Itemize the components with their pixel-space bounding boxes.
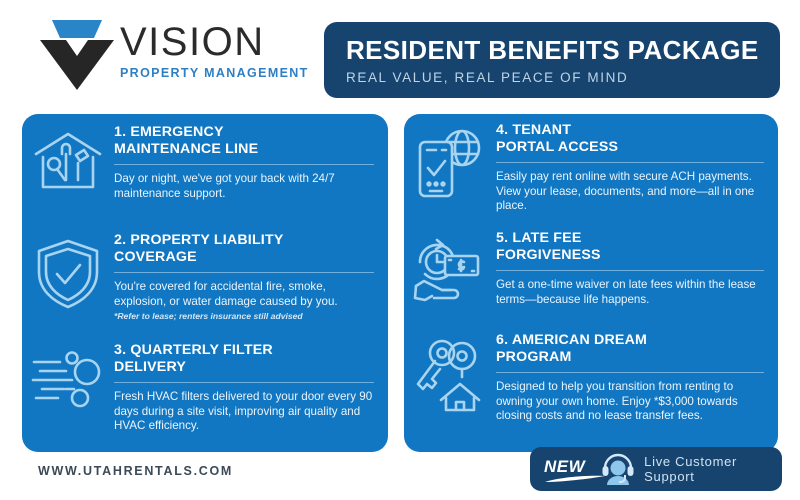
website-url[interactable]: WWW.UTAHRENTALS.COM [38, 464, 233, 478]
benefits-card-right: 4. TENANT PORTAL ACCESS Easily pay rent … [404, 114, 778, 452]
brand-wordmark: VISION PROPERTY MANAGEMENT [120, 20, 310, 81]
benefit-title-line1: 2. PROPERTY LIABILITY [114, 232, 374, 249]
benefit-body: 3. QUARTERLY FILTER DELIVERY Fresh HVAC … [114, 342, 388, 434]
benefit-divider [114, 164, 374, 165]
benefit-divider [496, 270, 764, 271]
headset-agent-icon [601, 453, 635, 485]
benefit-body: 6. AMERICAN DREAM PROGRAM Designed to he… [496, 332, 778, 424]
benefit-item-tenant-portal: 4. TENANT PORTAL ACCESS Easily pay rent … [404, 122, 778, 214]
benefit-description: Easily pay rent online with secure ACH p… [496, 170, 764, 214]
brand-logo: VISION PROPERTY MANAGEMENT [38, 14, 308, 92]
benefit-divider [114, 272, 374, 273]
benefit-title-line2: FORGIVENESS [496, 247, 764, 264]
brand-tagline: PROPERTY MANAGEMENT [120, 65, 310, 81]
benefit-divider [496, 372, 764, 373]
page-subtitle: REAL VALUE, REAL PEACE OF MIND [346, 68, 780, 88]
benefit-title-line1: 1. EMERGENCY [114, 124, 374, 141]
support-label: Live Customer Support [644, 454, 737, 485]
new-flag-label: NEW [544, 457, 585, 477]
airflow-icon [22, 342, 114, 410]
benefit-title-line2: PORTAL ACCESS [496, 139, 764, 156]
benefit-description: You're covered for accidental fire, smok… [114, 280, 374, 309]
benefit-description: Get a one-time waiver on late fees withi… [496, 278, 764, 307]
brand-name: VISION [120, 20, 310, 64]
benefit-body: 5. LATE FEE FORGIVENESS Get a one-time w… [496, 230, 778, 307]
benefit-item-late-fee-forgiveness: 5. LATE FEE FORGIVENESS Get a one-time w… [404, 230, 778, 307]
benefit-body: 1. EMERGENCY MAINTENANCE LINE Day or nig… [114, 124, 388, 201]
support-label-line1: Live Customer [644, 454, 737, 470]
benefit-divider [496, 162, 764, 163]
title-banner: RESIDENT BENEFITS PACKAGE REAL VALUE, RE… [324, 22, 780, 98]
benefit-title-line2: COVERAGE [114, 249, 374, 266]
benefit-title-line1: 5. LATE FEE [496, 230, 764, 247]
house-tools-icon [22, 124, 114, 192]
benefit-title-line2: PROGRAM [496, 349, 764, 366]
keys-house-icon [404, 332, 496, 412]
benefit-title-line1: 3. QUARTERLY FILTER [114, 342, 374, 359]
phone-globe-icon [404, 122, 496, 200]
benefit-description: Day or night, we've got your back with 2… [114, 172, 374, 201]
vision-v-logo-icon [38, 16, 116, 92]
page-title: RESIDENT BENEFITS PACKAGE [346, 35, 780, 65]
page-header: VISION PROPERTY MANAGEMENT RESIDENT BENE… [0, 0, 800, 108]
benefit-description: Fresh HVAC filters delivered to your doo… [114, 390, 374, 434]
benefit-item-property-liability: 2. PROPERTY LIABILITY COVERAGE You're co… [22, 232, 388, 322]
benefit-item-emergency-maintenance: 1. EMERGENCY MAINTENANCE LINE Day or nig… [22, 124, 388, 201]
benefit-title-line2: MAINTENANCE LINE [114, 141, 374, 158]
benefit-footnote: *Refer to lease; renters insurance still… [114, 310, 374, 322]
support-label-line2: Support [644, 469, 737, 485]
benefit-body: 4. TENANT PORTAL ACCESS Easily pay rent … [496, 122, 778, 214]
swoosh-icon [544, 475, 606, 483]
benefits-card-left: 1. EMERGENCY MAINTENANCE LINE Day or nig… [22, 114, 388, 452]
benefit-title-line1: 6. AMERICAN DREAM [496, 332, 764, 349]
benefit-item-american-dream: 6. AMERICAN DREAM PROGRAM Designed to he… [404, 332, 778, 424]
benefit-divider [114, 382, 374, 383]
benefit-body: 2. PROPERTY LIABILITY COVERAGE You're co… [114, 232, 388, 322]
hand-money-clock-icon [404, 230, 496, 302]
shield-check-icon [22, 232, 114, 310]
benefit-item-quarterly-filter: 3. QUARTERLY FILTER DELIVERY Fresh HVAC … [22, 342, 388, 434]
benefit-title-line1: 4. TENANT [496, 122, 764, 139]
live-support-badge[interactable]: NEW Live Customer Support [530, 447, 782, 491]
benefit-title-line2: DELIVERY [114, 359, 374, 376]
benefit-description: Designed to help you transition from ren… [496, 380, 764, 424]
